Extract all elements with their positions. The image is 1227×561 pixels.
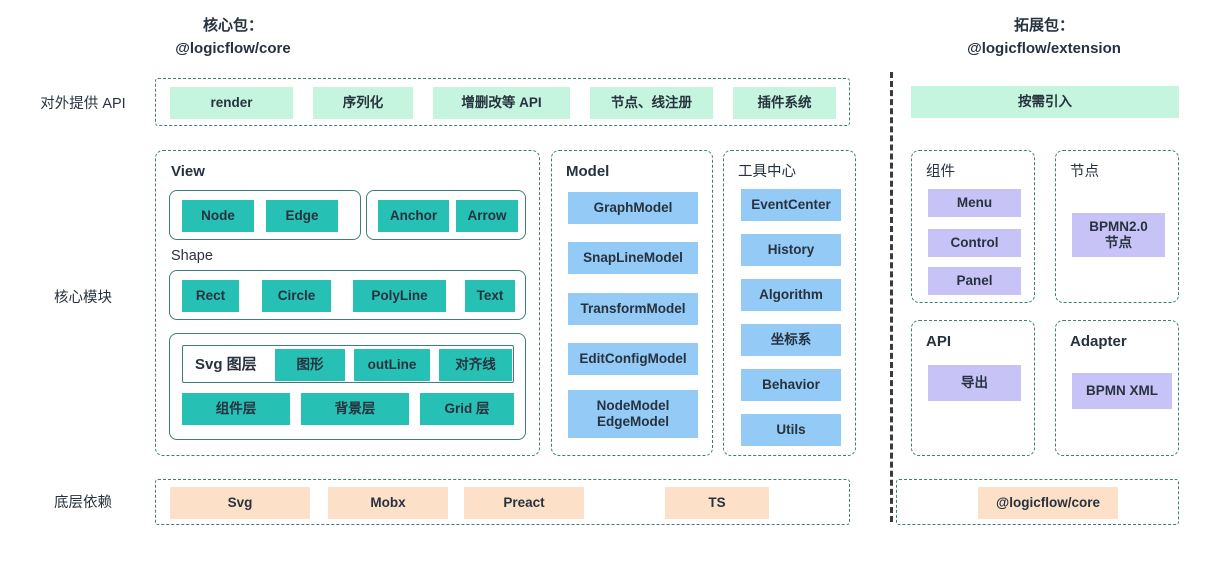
api-row-core-container: render 序列化 增删改等 API 节点、线注册 插件系统 <box>155 78 850 126</box>
layers-group: Svg 图层 图形 outLine 对齐线 组件层 背景层 Grid 层 <box>169 333 526 440</box>
model-chip-node-edge-model[interactable]: NodeModel EdgeModel <box>568 390 698 438</box>
component-chip-control[interactable]: Control <box>928 229 1021 257</box>
api-row-extension-container: 按需引入 <box>911 78 1179 126</box>
svg-layer-group: Svg 图层 图形 outLine 对齐线 <box>182 345 514 383</box>
shape-chip-polyline[interactable]: PolyLine <box>353 280 446 312</box>
api-chip-plugin-system[interactable]: 插件系统 <box>733 87 836 119</box>
view-chip-edge[interactable]: Edge <box>266 200 338 232</box>
core-extension-divider <box>890 72 893 522</box>
extension-api-group-title: API <box>926 333 951 351</box>
shape-chip-text[interactable]: Text <box>465 280 515 312</box>
tool-chip-history[interactable]: History <box>741 234 841 266</box>
base-dep-chip-logicflow-core[interactable]: @logicflow/core <box>978 487 1118 519</box>
nodes-group-container: 节点 BPMN2.0 节点 <box>1055 150 1179 303</box>
base-deps-core-container: Svg Mobx Preact TS <box>155 479 850 525</box>
api-chip-on-demand-import[interactable]: 按需引入 <box>911 86 1179 118</box>
tool-chip-behavior[interactable]: Behavior <box>741 369 841 401</box>
row-label-base-deps: 底层依赖 <box>18 494 148 512</box>
model-chip-snaplinemodel[interactable]: SnapLineModel <box>568 242 698 274</box>
adapter-group-container: Adapter BPMN XML <box>1055 320 1179 456</box>
base-dep-chip-svg[interactable]: Svg <box>170 487 310 519</box>
row-label-api: 对外提供 API <box>18 95 148 113</box>
view-group-title: View <box>171 163 205 181</box>
layer-chip-grid[interactable]: Grid 层 <box>420 393 514 425</box>
svg-layer-label: Svg 图层 <box>195 356 257 374</box>
model-chip-graphmodel[interactable]: GraphModel <box>568 192 698 224</box>
model-chip-editconfigmodel[interactable]: EditConfigModel <box>568 343 698 375</box>
tool-center-group-title: 工具中心 <box>738 163 796 181</box>
shape-group-title: Shape <box>171 247 213 265</box>
base-deps-extension-container: @logicflow/core <box>896 479 1179 525</box>
node-chip-bpmn20[interactable]: BPMN2.0 节点 <box>1072 213 1165 257</box>
api-chip-serialize[interactable]: 序列化 <box>313 87 413 119</box>
view-chip-anchor[interactable]: Anchor <box>378 200 449 232</box>
extension-package-caption: 拓展包： @logicflow/extension <box>884 14 1204 60</box>
extension-api-group-container: API 导出 <box>911 320 1035 456</box>
component-chip-menu[interactable]: Menu <box>928 189 1021 217</box>
anchor-arrow-group: Anchor Arrow <box>366 190 526 240</box>
view-chip-node[interactable]: Node <box>182 200 254 232</box>
base-dep-chip-preact[interactable]: Preact <box>464 487 584 519</box>
shape-group: Rect Circle PolyLine Text <box>169 270 526 320</box>
view-chip-arrow[interactable]: Arrow <box>456 200 518 232</box>
tool-center-group-container: 工具中心 EventCenter History Algorithm 坐标系 B… <box>723 150 856 456</box>
base-dep-chip-ts[interactable]: TS <box>665 487 769 519</box>
components-group-title: 组件 <box>926 163 955 181</box>
api-chip-crud-api[interactable]: 增删改等 API <box>433 87 570 119</box>
model-group-title: Model <box>566 163 609 181</box>
api-chip-render[interactable]: render <box>170 87 293 119</box>
node-edge-group: Node Edge <box>169 190 361 240</box>
adapter-group-title: Adapter <box>1070 333 1127 351</box>
layer-chip-component[interactable]: 组件层 <box>182 393 290 425</box>
api-chip-node-edge-register[interactable]: 节点、线注册 <box>590 87 713 119</box>
tool-chip-eventcenter[interactable]: EventCenter <box>741 189 841 221</box>
adapter-chip-bpmn-xml[interactable]: BPMN XML <box>1072 373 1172 409</box>
extension-api-chip-export[interactable]: 导出 <box>928 365 1021 401</box>
svg-layer-chip-align-line[interactable]: 对齐线 <box>439 349 512 381</box>
svg-layer-chip-shape[interactable]: 图形 <box>275 349 345 381</box>
model-chip-transformmodel[interactable]: TransformModel <box>568 293 698 325</box>
core-package-caption: 核心包： @logicflow/core <box>133 14 333 60</box>
view-group-container: View Node Edge Anchor Arrow Shape Rect C… <box>155 150 540 456</box>
model-group-container: Model GraphModel SnapLineModel Transform… <box>551 150 713 456</box>
tool-chip-utils[interactable]: Utils <box>741 414 841 446</box>
tool-chip-coordinate-system[interactable]: 坐标系 <box>741 324 841 356</box>
svg-layer-chip-outline[interactable]: outLine <box>354 349 430 381</box>
nodes-group-title: 节点 <box>1070 163 1099 181</box>
tool-chip-algorithm[interactable]: Algorithm <box>741 279 841 311</box>
architecture-diagram: 核心包： @logicflow/core 拓展包： @logicflow/ext… <box>0 0 1227 561</box>
shape-chip-rect[interactable]: Rect <box>182 280 239 312</box>
components-group-container: 组件 Menu Control Panel <box>911 150 1035 303</box>
row-label-core-modules: 核心模块 <box>18 289 148 307</box>
shape-chip-circle[interactable]: Circle <box>262 280 331 312</box>
base-dep-chip-mobx[interactable]: Mobx <box>328 487 448 519</box>
component-chip-panel[interactable]: Panel <box>928 267 1021 295</box>
layer-chip-background[interactable]: 背景层 <box>301 393 409 425</box>
